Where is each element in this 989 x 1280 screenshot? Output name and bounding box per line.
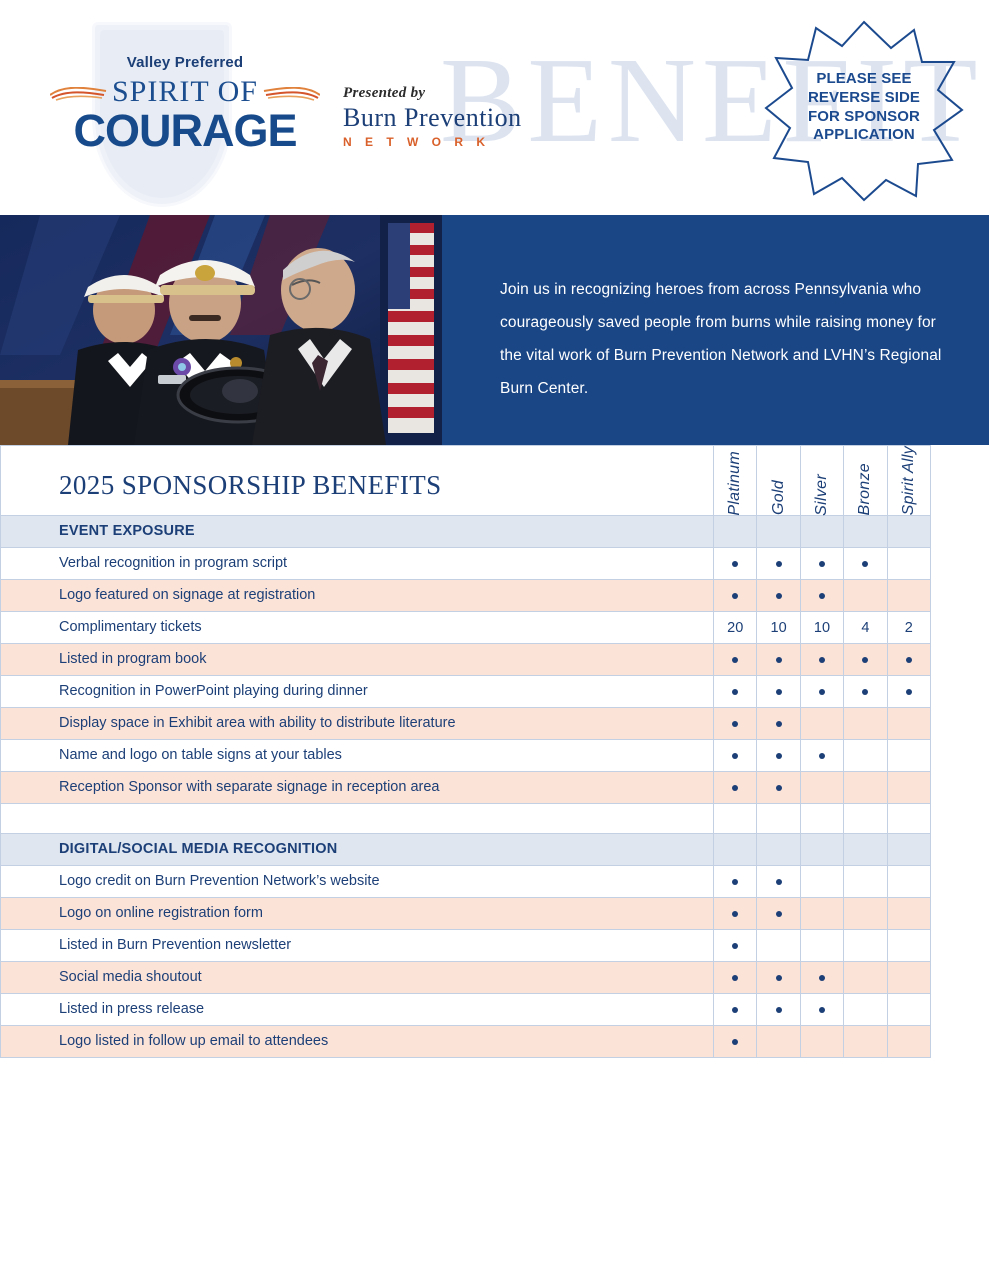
benefit-value-bronze xyxy=(844,708,887,740)
benefit-value-gold xyxy=(757,1026,800,1058)
bullet-dot-icon xyxy=(906,657,912,663)
table-row: Name and logo on table signs at your tab… xyxy=(1,740,931,772)
swoosh-left-icon xyxy=(50,87,108,101)
section-header-cell xyxy=(844,516,887,548)
benefit-value-spirit-ally xyxy=(887,772,930,804)
benefit-value-silver xyxy=(800,898,843,930)
table-row: Social media shoutout xyxy=(1,962,931,994)
benefit-value-silver xyxy=(800,962,843,994)
benefit-value-gold xyxy=(757,930,800,962)
bullet-dot-icon xyxy=(776,879,782,885)
callout-line-3: FOR SPONSOR xyxy=(764,108,964,127)
benefit-label: Logo on online registration form xyxy=(1,898,714,930)
benefits-table-wrap: 2025 SPONSORSHIP BENEFITSPlatinumGoldSil… xyxy=(0,445,989,1058)
bullet-dot-icon xyxy=(732,975,738,981)
swoosh-right-icon xyxy=(262,87,320,101)
benefit-value-silver xyxy=(800,676,843,708)
bullet-dot-icon xyxy=(819,753,825,759)
bullet-dot-icon xyxy=(819,1007,825,1013)
table-row: Logo featured on signage at registration xyxy=(1,580,931,612)
section-heading: DIGITAL/SOCIAL MEDIA RECOGNITION xyxy=(1,834,714,866)
benefit-value-spirit-ally xyxy=(887,866,930,898)
sponsorship-benefits-table: 2025 SPONSORSHIP BENEFITSPlatinumGoldSil… xyxy=(0,445,931,1058)
bullet-dot-icon xyxy=(732,1007,738,1013)
benefit-value-platinum xyxy=(714,994,757,1026)
section-header-cell xyxy=(714,516,757,548)
logo-valley-preferred-text: Valley Preferred xyxy=(40,55,330,72)
table-row: Listed in press release xyxy=(1,994,931,1026)
spacer-cell xyxy=(1,804,714,834)
benefit-value-silver xyxy=(800,644,843,676)
table-row: Reception Sponsor with separate signage … xyxy=(1,772,931,804)
bullet-dot-icon xyxy=(776,657,782,663)
photo-illustration xyxy=(0,215,442,445)
benefit-value-gold xyxy=(757,962,800,994)
bullet-dot-icon xyxy=(819,561,825,567)
benefit-value-gold xyxy=(757,548,800,580)
benefit-label: Recognition in PowerPoint playing during… xyxy=(1,676,714,708)
bullet-dot-icon xyxy=(732,657,738,663)
section-header-cell xyxy=(844,834,887,866)
benefit-value-spirit-ally xyxy=(887,676,930,708)
benefit-value-platinum xyxy=(714,708,757,740)
benefit-value-silver xyxy=(800,866,843,898)
banner-description-text: Join us in recognizing heroes from acros… xyxy=(500,273,960,405)
sponsorship-benefits-page: BENEFITS Valley Preferred SPIRIT OF COUR… xyxy=(0,0,989,1280)
section-header-cell xyxy=(714,834,757,866)
benefit-value-bronze xyxy=(844,548,887,580)
table-title-row: 2025 SPONSORSHIP BENEFITSPlatinumGoldSil… xyxy=(1,446,931,516)
benefit-value-spirit-ally xyxy=(887,548,930,580)
bullet-dot-icon xyxy=(776,689,782,695)
bullet-dot-icon xyxy=(732,879,738,885)
benefit-value-bronze xyxy=(844,740,887,772)
benefit-value-platinum xyxy=(714,772,757,804)
spacer-cell xyxy=(800,804,843,834)
section-header-cell xyxy=(757,516,800,548)
benefit-value-platinum xyxy=(714,866,757,898)
benefit-value-gold xyxy=(757,898,800,930)
benefit-value-bronze xyxy=(844,580,887,612)
callout-line-4: APPLICATION xyxy=(764,126,964,145)
section-header-cell xyxy=(800,834,843,866)
benefit-value-spirit-ally xyxy=(887,898,930,930)
benefit-label: Logo listed in follow up email to attend… xyxy=(1,1026,714,1058)
benefit-value-spirit-ally xyxy=(887,994,930,1026)
benefit-value-gold xyxy=(757,644,800,676)
benefit-value-gold xyxy=(757,580,800,612)
benefit-value-spirit-ally xyxy=(887,1026,930,1058)
bullet-dot-icon xyxy=(819,689,825,695)
section-header-row: EVENT EXPOSURE xyxy=(1,516,931,548)
table-row: Listed in Burn Prevention newsletter xyxy=(1,930,931,962)
bullet-dot-icon xyxy=(732,911,738,917)
page-header: BENEFITS Valley Preferred SPIRIT OF COUR… xyxy=(0,0,989,215)
column-header-label: Silver xyxy=(813,474,831,516)
table-row: Logo on online registration form xyxy=(1,898,931,930)
table-row: Complimentary tickets20101042 xyxy=(1,612,931,644)
section-header-cell xyxy=(757,834,800,866)
page-title-text: 2025 SPONSORSHIP BENEFITS xyxy=(1,470,713,515)
bullet-dot-icon xyxy=(776,1007,782,1013)
table-row: Display space in Exhibit area with abili… xyxy=(1,708,931,740)
column-header-label: Spirit Ally xyxy=(900,446,918,515)
benefit-value-gold xyxy=(757,708,800,740)
bullet-dot-icon xyxy=(776,561,782,567)
spirit-of-courage-logo: Valley Preferred SPIRIT OF COURAGE xyxy=(40,55,330,155)
hero-banner: Join us in recognizing heroes from acros… xyxy=(0,215,989,445)
column-header-platinum: Platinum xyxy=(714,446,757,516)
column-header-gold: Gold xyxy=(757,446,800,516)
bpn-name-text: Burn Prevention xyxy=(343,103,522,133)
benefit-label: Name and logo on table signs at your tab… xyxy=(1,740,714,772)
spacer-cell xyxy=(757,804,800,834)
bullet-dot-icon xyxy=(862,561,868,567)
table-row: Verbal recognition in program script xyxy=(1,548,931,580)
benefit-value-silver xyxy=(800,930,843,962)
benefit-value-silver xyxy=(800,1026,843,1058)
benefit-value-platinum xyxy=(714,676,757,708)
bullet-dot-icon xyxy=(862,689,868,695)
bullet-dot-icon xyxy=(732,785,738,791)
benefit-value-silver xyxy=(800,580,843,612)
callout-line-2: REVERSE SIDE xyxy=(764,89,964,108)
benefit-value-platinum xyxy=(714,1026,757,1058)
bullet-dot-icon xyxy=(819,657,825,663)
benefit-value-bronze xyxy=(844,676,887,708)
section-header-cell xyxy=(800,516,843,548)
benefit-value-silver xyxy=(800,548,843,580)
bullet-dot-icon xyxy=(862,657,868,663)
benefit-value-bronze xyxy=(844,772,887,804)
bullet-dot-icon xyxy=(819,593,825,599)
burn-prevention-network-logo: Presented by Burn Prevention N E T W O R… xyxy=(343,85,522,149)
benefit-value-platinum xyxy=(714,580,757,612)
spacer-cell xyxy=(887,804,930,834)
benefit-value-spirit-ally xyxy=(887,708,930,740)
benefit-label: Verbal recognition in program script xyxy=(1,548,714,580)
column-header-label: Bronze xyxy=(856,463,874,516)
table-spacer-row xyxy=(1,804,931,834)
bullet-dot-icon xyxy=(732,689,738,695)
bullet-dot-icon xyxy=(732,593,738,599)
benefit-value-silver: 10 xyxy=(800,612,843,644)
table-row: Recognition in PowerPoint playing during… xyxy=(1,676,931,708)
section-header-cell xyxy=(887,516,930,548)
bullet-dot-icon xyxy=(732,1039,738,1045)
section-header-cell xyxy=(887,834,930,866)
benefit-value-silver xyxy=(800,708,843,740)
bullet-dot-icon xyxy=(776,785,782,791)
table-row: Logo listed in follow up email to attend… xyxy=(1,1026,931,1058)
benefit-value-platinum xyxy=(714,644,757,676)
benefit-value-bronze xyxy=(844,994,887,1026)
logo-courage-text: COURAGE xyxy=(40,107,330,155)
benefit-value-gold xyxy=(757,772,800,804)
column-header-label: Gold xyxy=(770,480,788,515)
table-row: Logo credit on Burn Prevention Network’s… xyxy=(1,866,931,898)
bullet-dot-icon xyxy=(732,943,738,949)
callout-line-1: PLEASE SEE xyxy=(764,70,964,89)
spacer-cell xyxy=(844,804,887,834)
benefit-label: Complimentary tickets xyxy=(1,612,714,644)
benefit-value-spirit-ally xyxy=(887,962,930,994)
benefit-value-platinum xyxy=(714,898,757,930)
bullet-dot-icon xyxy=(732,753,738,759)
bullet-dot-icon xyxy=(732,561,738,567)
benefit-value-platinum: 20 xyxy=(714,612,757,644)
bullet-dot-icon xyxy=(906,689,912,695)
benefit-value-gold: 10 xyxy=(757,612,800,644)
benefit-label: Reception Sponsor with separate signage … xyxy=(1,772,714,804)
column-header-silver: Silver xyxy=(800,446,843,516)
benefit-label: Listed in Burn Prevention newsletter xyxy=(1,930,714,962)
benefit-value-platinum xyxy=(714,740,757,772)
benefit-value-gold xyxy=(757,676,800,708)
benefit-value-bronze xyxy=(844,898,887,930)
benefit-value-bronze xyxy=(844,1026,887,1058)
reverse-side-callout-text: PLEASE SEE REVERSE SIDE FOR SPONSOR APPL… xyxy=(764,70,964,145)
spacer-cell xyxy=(714,804,757,834)
benefit-value-gold xyxy=(757,994,800,1026)
column-header-spirit-ally: Spirit Ally xyxy=(887,446,930,516)
benefit-label: Display space in Exhibit area with abili… xyxy=(1,708,714,740)
benefit-label: Logo featured on signage at registration xyxy=(1,580,714,612)
table-row: Listed in program book xyxy=(1,644,931,676)
benefit-value-spirit-ally xyxy=(887,644,930,676)
presented-by-text: Presented by xyxy=(343,85,522,102)
award-ceremony-photo xyxy=(0,215,442,445)
bullet-dot-icon xyxy=(776,975,782,981)
page-title: 2025 SPONSORSHIP BENEFITS xyxy=(1,446,714,516)
benefit-label: Listed in program book xyxy=(1,644,714,676)
benefit-value-bronze xyxy=(844,962,887,994)
benefit-value-platinum xyxy=(714,962,757,994)
bullet-dot-icon xyxy=(776,721,782,727)
benefit-value-bronze xyxy=(844,866,887,898)
benefit-value-silver xyxy=(800,740,843,772)
section-heading: EVENT EXPOSURE xyxy=(1,516,714,548)
benefit-value-spirit-ally xyxy=(887,930,930,962)
benefit-value-platinum xyxy=(714,930,757,962)
bullet-dot-icon xyxy=(776,911,782,917)
bullet-dot-icon xyxy=(819,975,825,981)
benefit-value-spirit-ally xyxy=(887,580,930,612)
benefit-label: Listed in press release xyxy=(1,994,714,1026)
column-header-label: Platinum xyxy=(726,451,744,516)
benefit-value-bronze xyxy=(844,930,887,962)
benefit-value-bronze: 4 xyxy=(844,612,887,644)
benefit-value-gold xyxy=(757,866,800,898)
benefit-value-spirit-ally: 2 xyxy=(887,612,930,644)
bullet-dot-icon xyxy=(776,593,782,599)
benefit-label: Social media shoutout xyxy=(1,962,714,994)
section-header-row: DIGITAL/SOCIAL MEDIA RECOGNITION xyxy=(1,834,931,866)
column-header-bronze: Bronze xyxy=(844,446,887,516)
benefit-value-spirit-ally xyxy=(887,740,930,772)
benefit-value-platinum xyxy=(714,548,757,580)
benefit-value-silver xyxy=(800,772,843,804)
benefit-value-silver xyxy=(800,994,843,1026)
bullet-dot-icon xyxy=(776,753,782,759)
benefit-label: Logo credit on Burn Prevention Network’s… xyxy=(1,866,714,898)
benefit-value-gold xyxy=(757,740,800,772)
bullet-dot-icon xyxy=(732,721,738,727)
benefit-value-bronze xyxy=(844,644,887,676)
bpn-network-text: N E T W O R K xyxy=(343,135,522,149)
